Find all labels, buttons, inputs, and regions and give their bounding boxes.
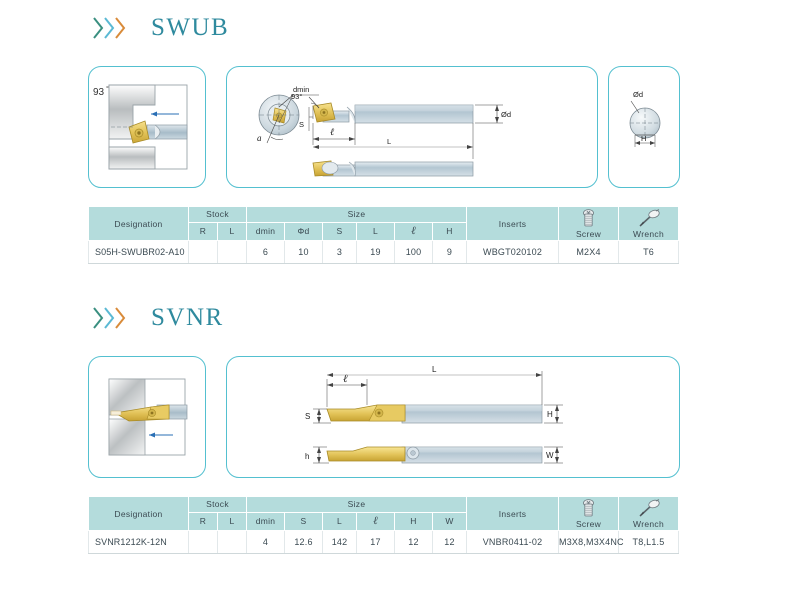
header-screw: Screw	[559, 497, 619, 531]
technical-drawing-svnr: ℓ S L H	[226, 356, 680, 478]
table-row[interactable]: S05H-SWUBR02-A10 6 10 3 19 100 9 WBGT020…	[89, 241, 679, 264]
table-header-row-group: Designation Stock Size Inserts Screw	[89, 497, 679, 513]
header-screw: Screw	[559, 207, 619, 241]
cell-s: 3	[323, 241, 357, 264]
svg-text:S: S	[305, 412, 310, 421]
cell-h: 9	[433, 241, 467, 264]
svg-text:°: °	[106, 85, 109, 93]
swub-drawing-svg: dmin a 93° S	[227, 67, 597, 187]
cell-w: 12	[433, 531, 467, 554]
svg-text:H: H	[641, 134, 646, 143]
section-heading-svnr: SVNR	[88, 300, 224, 336]
cell-dmin: 4	[247, 531, 285, 554]
cell-wrench: T6	[619, 241, 679, 264]
screw-label: Screw	[559, 229, 618, 240]
swub-section-svg: Ød H	[609, 67, 679, 187]
wrench-icon	[619, 497, 678, 519]
page-title-swub: SWUB	[151, 14, 229, 42]
header-s: S	[323, 222, 357, 240]
svnr-drawing-svg: ℓ S L H	[227, 357, 679, 477]
header-dmin: dmin	[247, 512, 285, 530]
header-stock-l: L	[218, 512, 247, 530]
header-size: Size	[247, 497, 467, 513]
header-phi-d: Φd	[285, 222, 323, 240]
header-wrench: Wrench	[619, 497, 679, 531]
header-s: S	[285, 512, 323, 530]
header-stock: Stock	[189, 207, 247, 223]
header-inserts: Inserts	[467, 497, 559, 531]
table-header-row-group: Designation Stock Size Inserts Screw	[89, 207, 679, 223]
wrench-label: Wrench	[619, 519, 678, 530]
swub-application-svg: 93 °	[89, 67, 205, 187]
header-l-cap: L	[323, 512, 357, 530]
header-stock-r: R	[189, 222, 218, 240]
wrench-label: Wrench	[619, 229, 678, 240]
spec-table-swub: Designation Stock Size Inserts Screw	[88, 206, 679, 264]
header-w: W	[433, 512, 467, 530]
application-diagram-swub: 93 °	[88, 66, 206, 188]
header-designation: Designation	[89, 497, 189, 531]
cell-stock-l	[218, 241, 247, 264]
cell-inserts: WBGT020102	[467, 241, 559, 264]
cell-screw: M2X4	[559, 241, 619, 264]
double-chevron-right-icon	[92, 15, 125, 41]
svg-text:ℓ: ℓ	[330, 127, 334, 138]
section-heading-swub: SWUB	[88, 10, 229, 46]
header-l-cap: L	[357, 222, 395, 240]
svg-text:93: 93	[93, 87, 105, 98]
application-diagram-svnr	[88, 356, 206, 478]
svnr-application-svg	[89, 357, 205, 477]
cell-stock-r	[189, 241, 218, 264]
cell-designation: SVNR1212K-12N	[89, 531, 189, 554]
cell-s: 12.6	[285, 531, 323, 554]
svg-text:93°: 93°	[291, 92, 302, 101]
cell-wrench: T8,L1.5	[619, 531, 679, 554]
svg-text:L: L	[387, 137, 391, 146]
cell-phi-d: 10	[285, 241, 323, 264]
header-wrench: Wrench	[619, 207, 679, 241]
cell-l-small: 17	[357, 531, 395, 554]
screw-icon	[559, 207, 618, 229]
table-row[interactable]: SVNR1212K-12N 4 12.6 142 17 12 12 VNBR04…	[89, 531, 679, 554]
cross-section-swub: Ød H	[608, 66, 680, 188]
cell-l-cap: 142	[323, 531, 357, 554]
double-chevron-right-icon	[92, 305, 125, 331]
cell-stock-r	[189, 531, 218, 554]
cell-l-small: 100	[395, 241, 433, 264]
header-stock-r: R	[189, 512, 218, 530]
svg-text:L: L	[432, 365, 437, 374]
spec-table-svnr: Designation Stock Size Inserts Screw	[88, 496, 679, 554]
cell-dmin: 6	[247, 241, 285, 264]
screw-label: Screw	[559, 519, 618, 530]
svg-text:Ød: Ød	[501, 110, 511, 119]
technical-drawing-swub: dmin a 93° S	[226, 66, 598, 188]
header-dmin: dmin	[247, 222, 285, 240]
header-designation: Designation	[89, 207, 189, 241]
cell-inserts: VNBR0411-02	[467, 531, 559, 554]
header-stock: Stock	[189, 497, 247, 513]
header-size: Size	[247, 207, 467, 223]
page-title-svnr: SVNR	[151, 304, 224, 332]
header-inserts: Inserts	[467, 207, 559, 241]
cell-screw: M3X8,M3X4NC	[559, 531, 619, 554]
svg-text:Ød: Ød	[633, 90, 643, 99]
svg-text:H: H	[547, 410, 553, 419]
svg-text:a: a	[257, 133, 262, 143]
header-stock-l: L	[218, 222, 247, 240]
cell-designation: S05H-SWUBR02-A10	[89, 241, 189, 264]
cell-stock-l	[218, 531, 247, 554]
cell-h: 12	[395, 531, 433, 554]
svg-text:h: h	[305, 452, 309, 461]
screw-icon	[559, 497, 618, 519]
svg-text:S: S	[299, 120, 304, 129]
header-h: H	[433, 222, 467, 240]
wrench-icon	[619, 207, 678, 229]
header-h: H	[395, 512, 433, 530]
svg-text:W: W	[546, 451, 554, 460]
cell-l-cap: 19	[357, 241, 395, 264]
header-l-small: ℓ	[395, 222, 433, 240]
header-l-small: ℓ	[357, 512, 395, 530]
